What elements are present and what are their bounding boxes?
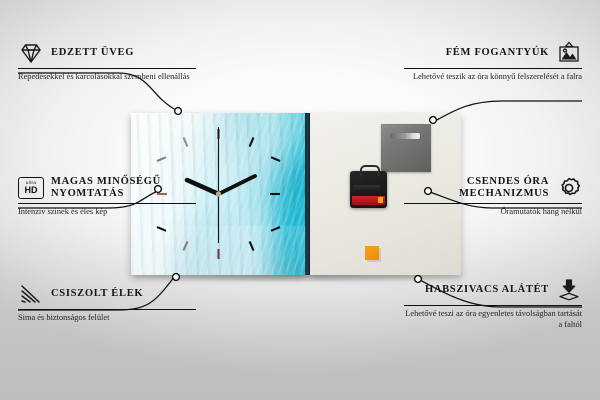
feature-tempered-glass: EDZETT ÜVEG Repedésekkel és karcolásokka… [18,40,196,83]
ultra-hd-badge-icon: ultra HD [18,175,44,201]
feature-title: MAGAS MINŐSÉGŰ NYOMTATÁS [51,176,196,200]
feature-header: CSENDES ÓRA MECHANIZMUS [404,175,582,203]
feature-title: EDZETT ÜVEG [51,47,134,59]
gear-icon [556,175,582,201]
feature-header: CSISZOLT ÉLEK [18,281,196,309]
infographic-canvas: EDZETT ÜVEG Repedésekkel és karcolásokka… [0,0,600,400]
feature-title: HABSZIVACS ALÁTÉT [425,284,549,296]
feature-description: Intenzív színek és éles kép [18,204,196,218]
feature-description: Óramutatók hang nélkül [404,204,582,218]
feature-description: Lehetővé teszi az óra egyenletes távolsá… [404,306,582,330]
feature-description: Sima és biztonságos felület [18,310,196,324]
feature-description: Repedésekkel és karcolásokkal szembeni e… [18,69,196,83]
feature-header: HABSZIVACS ALÁTÉT [404,277,582,305]
diamond-icon [18,40,44,66]
hd-label: HD [25,186,38,195]
arrow-onto-pad-icon [556,277,582,303]
feature-silent-mechanism: CSENDES ÓRA MECHANIZMUS Óramutatók hang … [404,175,582,218]
feature-description: Lehetővé teszik az óra könnyű felszerelé… [404,69,582,83]
clock-hands [187,127,255,243]
feature-header: ultra HD MAGAS MINŐSÉGŰ NYOMTATÁS [18,175,196,203]
feature-title: FÉM FOGANTYÚK [446,47,549,59]
feature-title: CSENDES ÓRA MECHANIZMUS [404,176,549,200]
feature-header: FÉM FOGANTYÚK [404,40,582,68]
feature-foam-pad: HABSZIVACS ALÁTÉT Lehetővé teszi az óra … [404,277,582,330]
feature-title: CSISZOLT ÉLEK [51,288,143,300]
feature-header: EDZETT ÜVEG [18,40,196,68]
diagonal-lines-icon [18,281,44,307]
feature-hd-print: ultra HD MAGAS MINŐSÉGŰ NYOMTATÁS Intenz… [18,175,196,218]
picture-frame-hanger-icon [556,40,582,66]
feature-polished-edges: CSISZOLT ÉLEK Sima és biztonságos felüle… [18,281,196,324]
feature-metal-handles: FÉM FOGANTYÚK Lehetővé teszik az óra kön… [404,40,582,83]
